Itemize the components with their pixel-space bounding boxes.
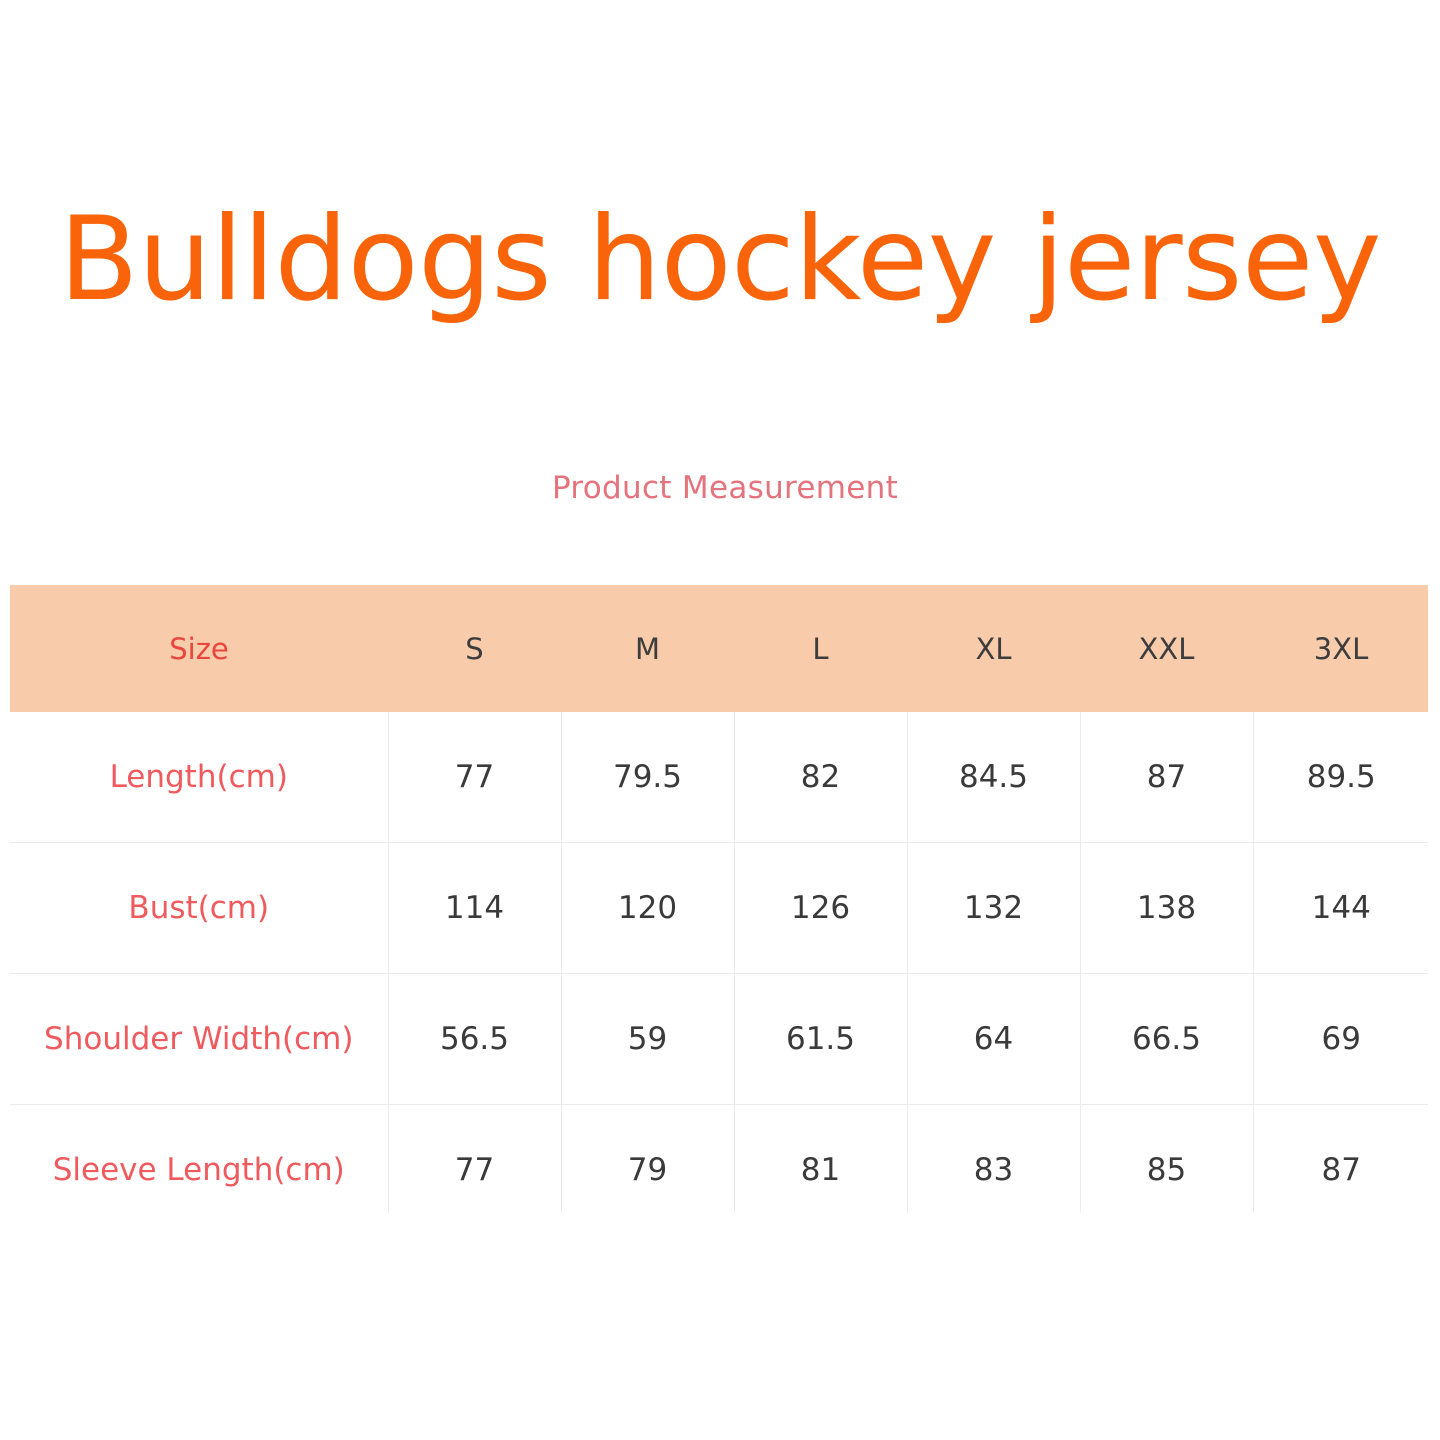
column-header-l: L bbox=[734, 585, 907, 712]
cell-bust-3xl: 144 bbox=[1253, 843, 1428, 974]
cell-length-l: 82 bbox=[734, 712, 907, 843]
row-label-bust: Bust(cm) bbox=[10, 843, 388, 974]
cell-shoulder-3xl: 69 bbox=[1253, 974, 1428, 1105]
page-title: Bulldogs hockey jersey bbox=[59, 199, 1381, 321]
size-chart-container: Size S M L XL XXL 3XL Length(cm) 77 79.5… bbox=[10, 585, 1428, 1213]
table-header: Size S M L XL XXL 3XL bbox=[10, 585, 1428, 712]
cell-length-3xl: 89.5 bbox=[1253, 712, 1428, 843]
table-row: Bust(cm) 114 120 126 132 138 144 bbox=[10, 843, 1428, 974]
table-header-row: Size S M L XL XXL 3XL bbox=[10, 585, 1428, 712]
table-row: Shoulder Width(cm) 56.5 59 61.5 64 66.5 … bbox=[10, 974, 1428, 1105]
cell-sleeve-xl: 83 bbox=[907, 1105, 1080, 1214]
cell-sleeve-m: 79 bbox=[561, 1105, 734, 1214]
row-label-sleeve-length: Sleeve Length(cm) bbox=[10, 1105, 388, 1214]
cell-bust-l: 126 bbox=[734, 843, 907, 974]
measurement-section: Product Measurement bbox=[0, 470, 1440, 506]
table-row: Length(cm) 77 79.5 82 84.5 87 89.5 bbox=[10, 712, 1428, 843]
cell-sleeve-l: 81 bbox=[734, 1105, 907, 1214]
table-body: Length(cm) 77 79.5 82 84.5 87 89.5 Bust(… bbox=[10, 712, 1428, 1213]
cell-shoulder-xl: 64 bbox=[907, 974, 1080, 1105]
page-root: Bulldogs hockey jersey Product Measureme… bbox=[0, 0, 1440, 1440]
cell-bust-m: 120 bbox=[561, 843, 734, 974]
cell-bust-xl: 132 bbox=[907, 843, 1080, 974]
cell-shoulder-l: 61.5 bbox=[734, 974, 907, 1105]
column-header-xxl: XXL bbox=[1080, 585, 1253, 712]
row-label-length: Length(cm) bbox=[10, 712, 388, 843]
size-chart-table: Size S M L XL XXL 3XL Length(cm) 77 79.5… bbox=[10, 585, 1428, 1213]
measurement-caption: Product Measurement bbox=[0, 470, 1440, 506]
cell-sleeve-s: 77 bbox=[388, 1105, 561, 1214]
product-title-band: Bulldogs hockey jersey bbox=[0, 170, 1440, 350]
cell-bust-xxl: 138 bbox=[1080, 843, 1253, 974]
cell-shoulder-m: 59 bbox=[561, 974, 734, 1105]
cell-sleeve-xxl: 85 bbox=[1080, 1105, 1253, 1214]
column-header-size: Size bbox=[10, 585, 388, 712]
column-header-3xl: 3XL bbox=[1253, 585, 1428, 712]
cell-bust-s: 114 bbox=[388, 843, 561, 974]
column-header-s: S bbox=[388, 585, 561, 712]
cell-length-xxl: 87 bbox=[1080, 712, 1253, 843]
table-row: Sleeve Length(cm) 77 79 81 83 85 87 bbox=[10, 1105, 1428, 1214]
row-label-shoulder-width: Shoulder Width(cm) bbox=[10, 974, 388, 1105]
cell-shoulder-s: 56.5 bbox=[388, 974, 561, 1105]
cell-shoulder-xxl: 66.5 bbox=[1080, 974, 1253, 1105]
cell-length-s: 77 bbox=[388, 712, 561, 843]
column-header-m: M bbox=[561, 585, 734, 712]
cell-sleeve-3xl: 87 bbox=[1253, 1105, 1428, 1214]
column-header-xl: XL bbox=[907, 585, 1080, 712]
cell-length-xl: 84.5 bbox=[907, 712, 1080, 843]
cell-length-m: 79.5 bbox=[561, 712, 734, 843]
